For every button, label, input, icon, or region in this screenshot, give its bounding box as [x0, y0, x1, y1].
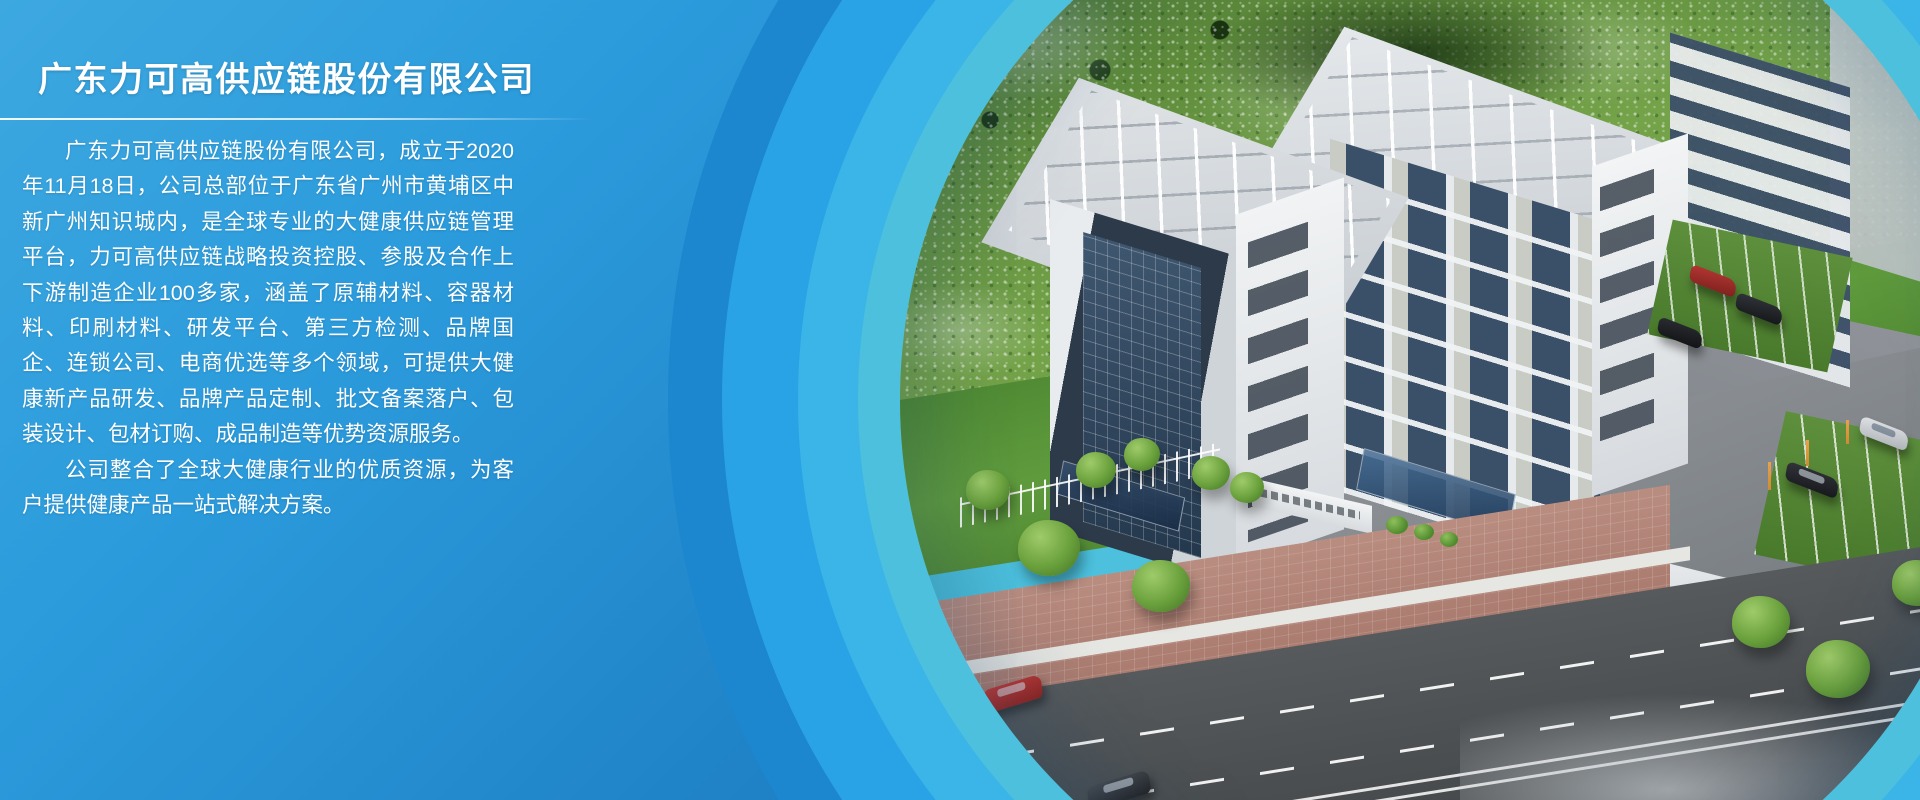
page-title: 广东力可高供应链股份有限公司 — [38, 52, 535, 101]
campus-photo-inner — [900, 0, 1920, 800]
company-description-paragraph-1: 广东力可高供应链股份有限公司，成立于2020年11月18日，公司总部位于广东省广… — [22, 134, 514, 453]
campus-photo — [900, 0, 1920, 800]
street-tree — [1018, 520, 1080, 576]
light-pole — [1846, 420, 1849, 444]
street-tree — [1192, 456, 1230, 490]
title-divider — [0, 118, 592, 120]
company-profile-banner: 广东力可高供应链股份有限公司 广东力可高供应链股份有限公司，成立于2020年11… — [0, 0, 1920, 800]
street-tree — [1076, 452, 1116, 488]
entrance-shrub — [1440, 532, 1458, 547]
company-description: 广东力可高供应链股份有限公司，成立于2020年11月18日，公司总部位于广东省广… — [22, 134, 514, 523]
street-tree — [1124, 438, 1160, 471]
light-pole — [1768, 462, 1771, 490]
company-description-paragraph-2: 公司整合了全球大健康行业的优质资源，为客户提供健康产品一站式解决方案。 — [22, 453, 514, 524]
road-haze — [1460, 690, 1920, 800]
entrance-shrub — [1386, 516, 1408, 534]
tower-right-window-slits — [1600, 169, 1654, 458]
street-tree — [1732, 596, 1790, 648]
street-tree — [1230, 472, 1264, 503]
street-tree — [1132, 560, 1190, 612]
company-intro-panel: 广东力可高供应链股份有限公司 广东力可高供应链股份有限公司，成立于2020年11… — [0, 0, 620, 800]
entrance-shrub — [1414, 524, 1434, 540]
light-pole — [1806, 440, 1809, 466]
street-tree — [966, 470, 1010, 510]
